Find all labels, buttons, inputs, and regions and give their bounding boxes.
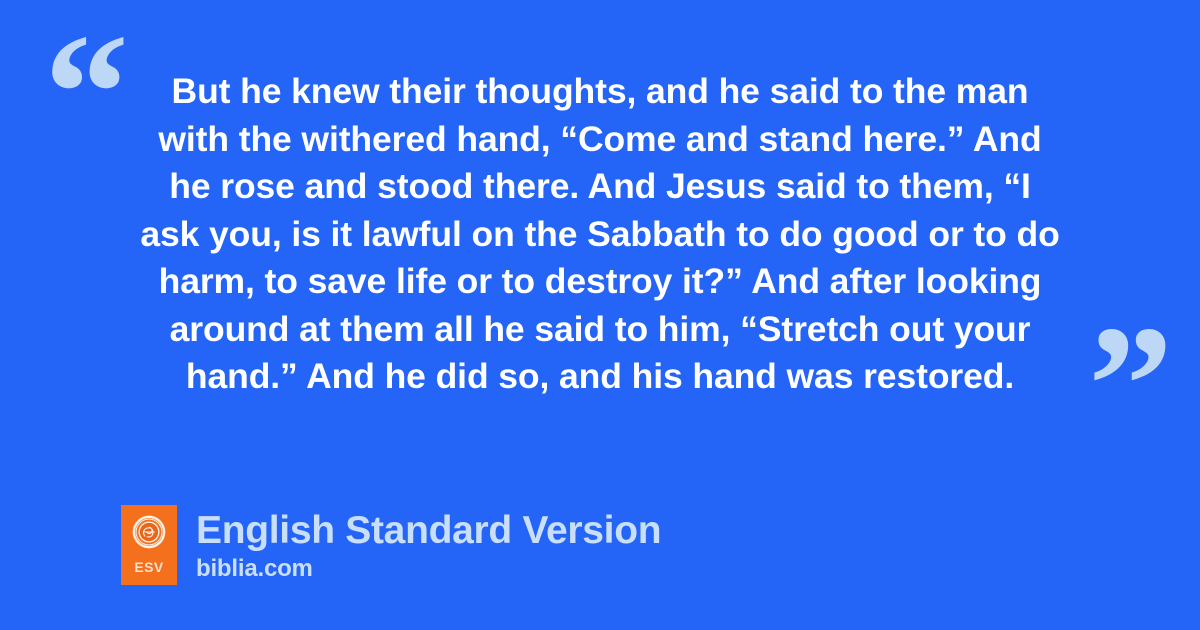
verse-line: harm, to save life or to destroy it?” An… [110, 258, 1090, 306]
bible-version-name: English Standard Version [196, 509, 661, 553]
verse-line: around at them all he said to him, “Stre… [110, 306, 1090, 354]
attribution-text: English Standard Version biblia.com [196, 505, 661, 583]
verse-line: But he knew their thoughts, and he said … [110, 68, 1090, 116]
closing-quote-icon: ” [1088, 300, 1171, 470]
verse-line: with the withered hand, “Come and stand … [110, 116, 1090, 164]
esv-badge: ESV [121, 505, 177, 585]
esv-seal-icon [132, 515, 166, 549]
verse-text: But he knew their thoughts, and he said … [110, 68, 1090, 401]
verse-image-card: “ ” But he knew their thoughts, and he s… [0, 0, 1200, 630]
attribution: ESV English Standard Version biblia.com [121, 505, 661, 585]
site-name: biblia.com [196, 555, 661, 583]
esv-badge-label: ESV [134, 560, 163, 574]
verse-line: ask you, is it lawful on the Sabbath to … [110, 211, 1090, 259]
verse-line: hand.” And he did so, and his hand was r… [110, 353, 1090, 401]
verse-line: he rose and stood there. And Jesus said … [110, 163, 1090, 211]
